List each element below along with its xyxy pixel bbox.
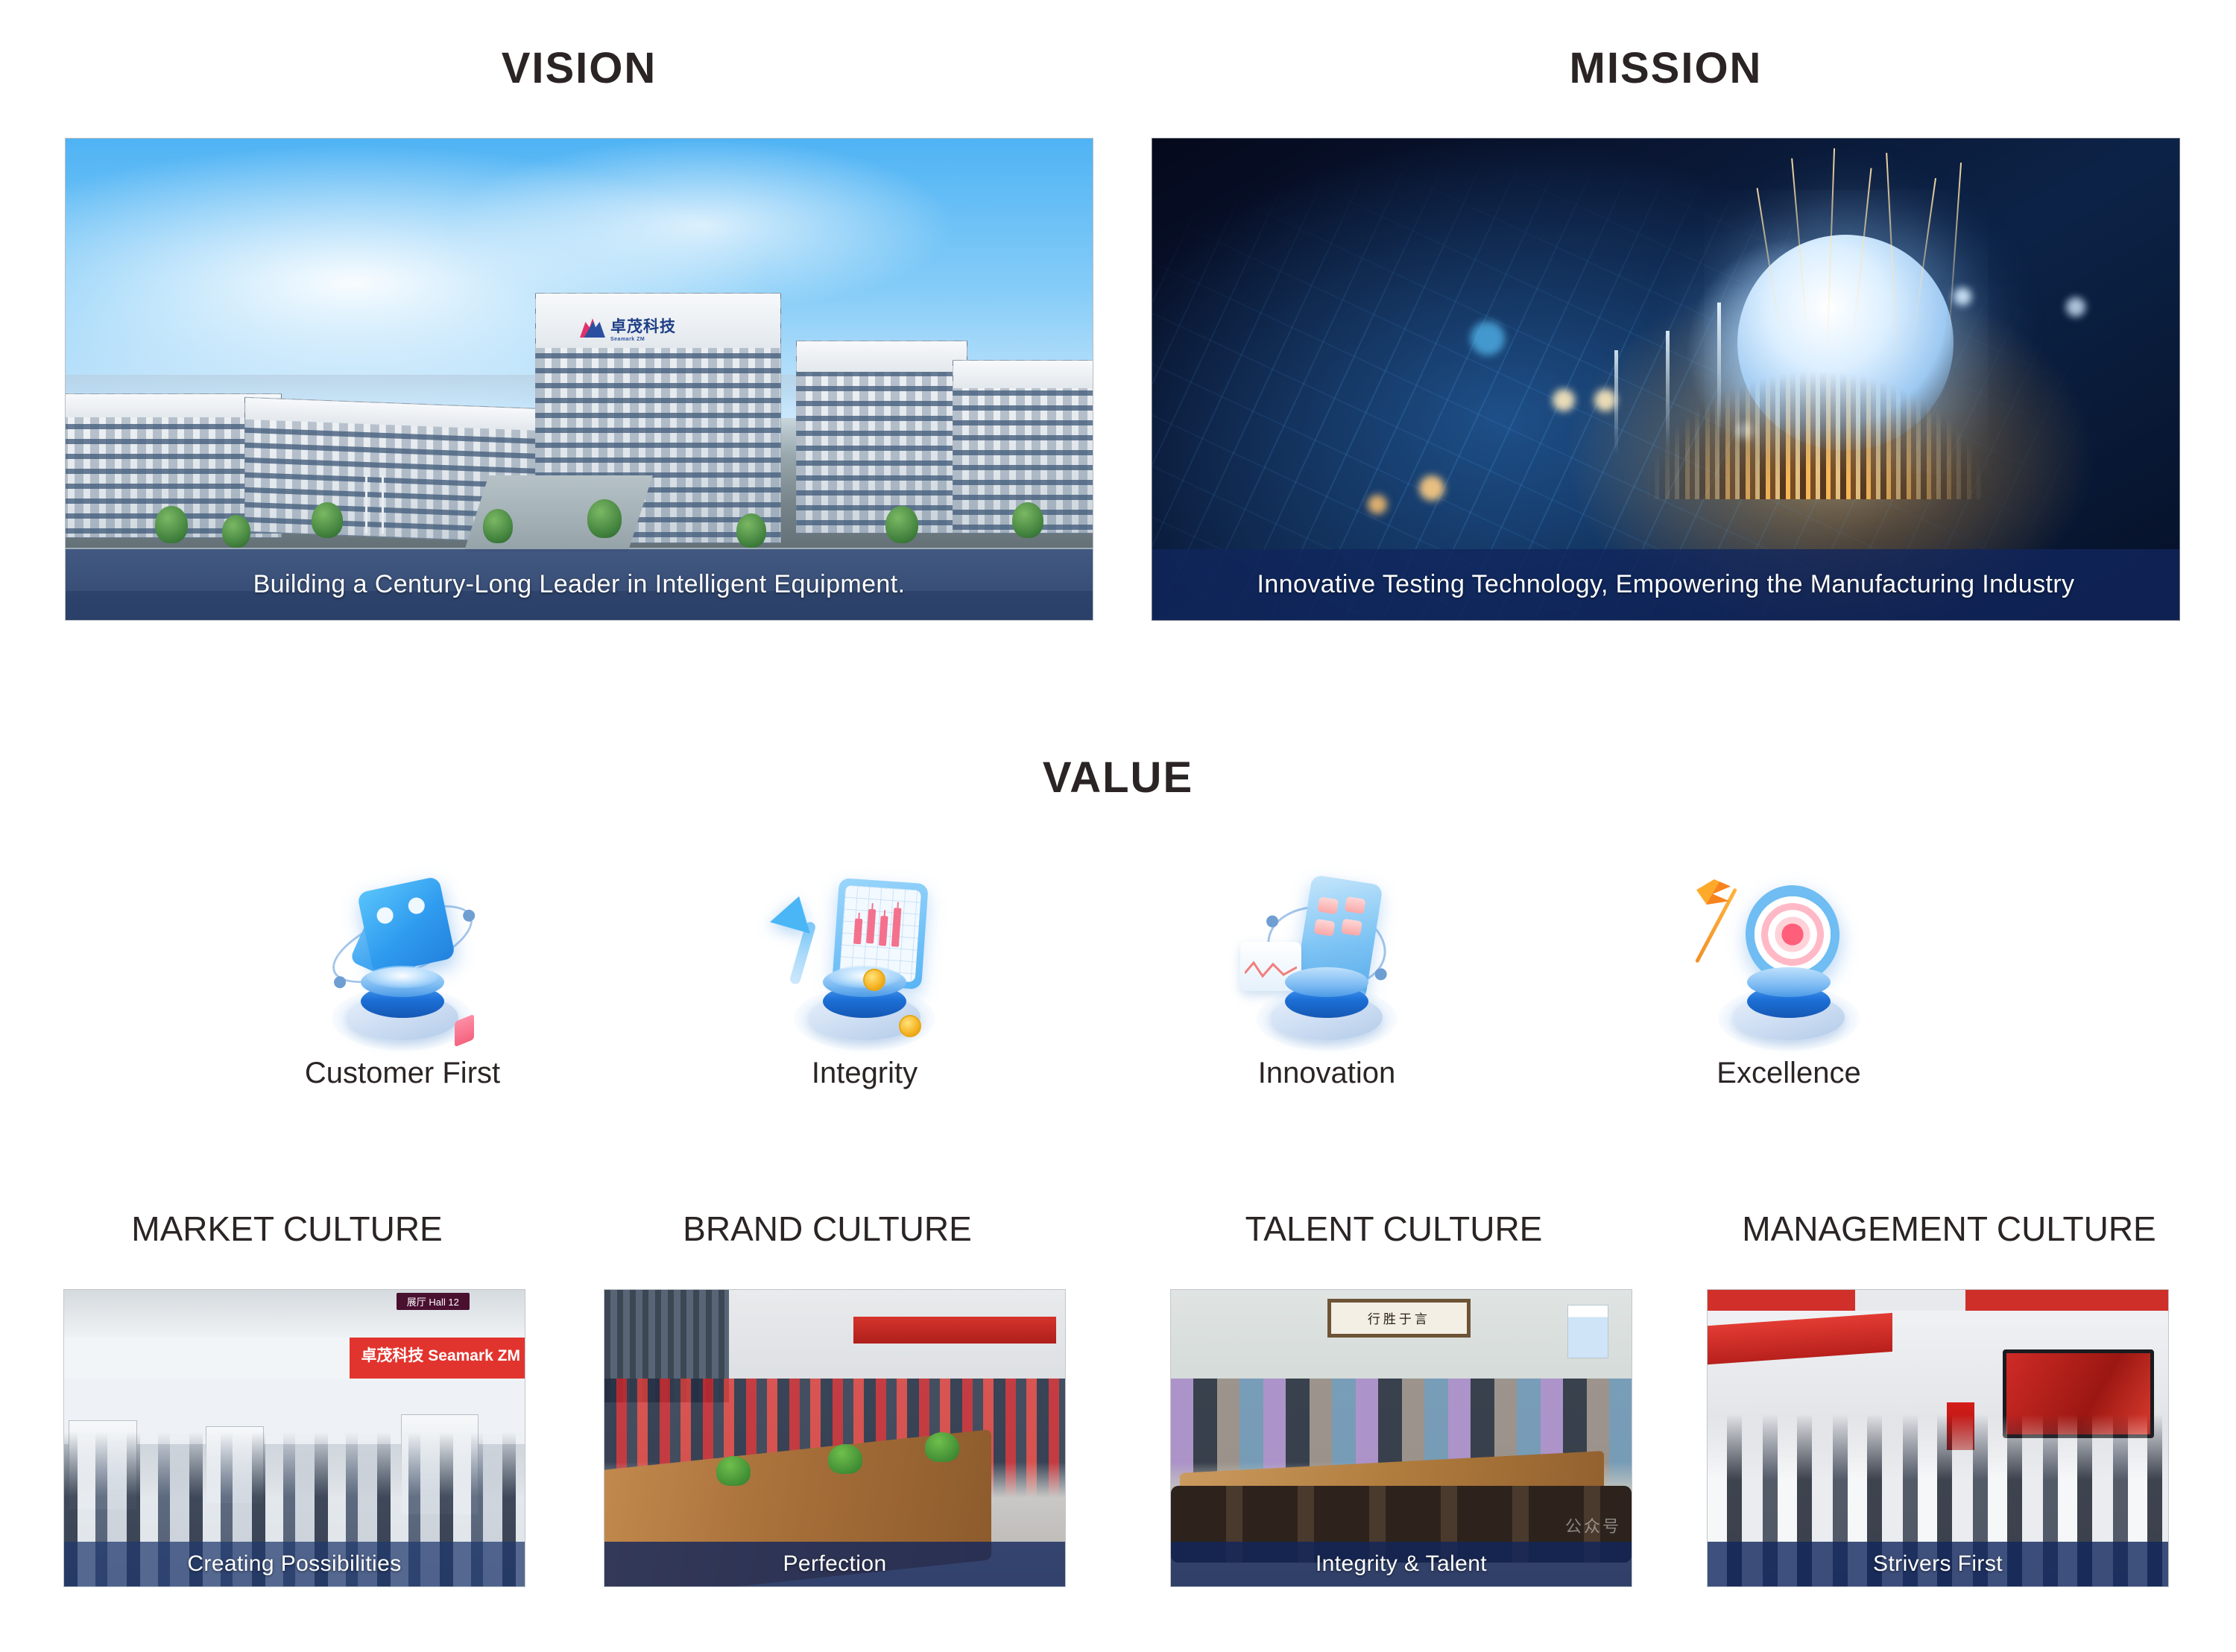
hall-number-sign: 展厅 Hall 12: [397, 1293, 470, 1310]
brand-culture-caption-text: Perfection: [783, 1551, 886, 1577]
coin-icon: [899, 1015, 921, 1037]
market-culture-caption-band: Creating Possibilities: [64, 1542, 525, 1586]
brand-culture-title: BRAND CULTURE: [604, 1209, 1051, 1249]
tree: [312, 502, 343, 538]
mission-section-title: MISSION: [1152, 43, 2180, 93]
management-culture-title: MANAGEMENT CULTURE: [1707, 1209, 2191, 1249]
value-items-grid: Customer First: [246, 879, 1997, 1177]
building-right-a: [796, 341, 967, 533]
company-sign-en: Seamark ZM: [610, 337, 676, 342]
light-pillar: [1717, 303, 1721, 437]
cube-primary-face: [357, 876, 456, 975]
brand-culture-caption-band: Perfection: [604, 1542, 1065, 1586]
orbit-dot: [1266, 914, 1279, 928]
tree: [483, 509, 513, 543]
management-culture-photo: Strivers First: [1707, 1289, 2169, 1587]
value-item-integrity: Integrity: [708, 879, 1021, 1090]
building-roof: [797, 341, 967, 372]
wall-poster: [1567, 1305, 1609, 1358]
booth-brand-text: 卓茂科技 Seamark ZM: [361, 1344, 520, 1366]
management-culture-caption-band: Strivers First: [1708, 1542, 2168, 1586]
light-pillar: [1614, 350, 1618, 455]
target-dart-podium-icon: [1692, 879, 1886, 1051]
candle: [879, 916, 888, 946]
talent-culture-photo: 行胜于言 公众号 Integrity & Talent: [1170, 1289, 1632, 1587]
building-roof: [953, 361, 1093, 388]
cube-podium-icon: [306, 879, 499, 1051]
bokeh-light: [1594, 389, 1617, 411]
chart-board-coin-podium-icon: [768, 879, 961, 1051]
ui-tile: [1344, 896, 1365, 914]
mission-caption-band: Innovative Testing Technology, Empowerin…: [1152, 549, 2179, 620]
orbit-dot: [1374, 967, 1388, 981]
management-culture-caption-text: Strivers First: [1873, 1551, 2003, 1577]
orbit-dot: [461, 908, 477, 923]
tree: [222, 515, 250, 548]
market-culture-caption-text: Creating Possibilities: [187, 1551, 401, 1577]
seamark-logo-icon: [580, 318, 605, 338]
dart-fletching: [1696, 879, 1731, 905]
flag-pole: [365, 475, 367, 534]
value-label: Innovation: [1170, 1057, 1483, 1090]
vision-section-title: VISION: [65, 43, 1093, 93]
table-plant: [828, 1444, 862, 1474]
calligraphy-plaque: 行胜于言: [1327, 1299, 1471, 1338]
value-label: Integrity: [708, 1057, 1021, 1090]
table-plant: [925, 1432, 959, 1462]
value-section-title: VALUE: [0, 753, 2236, 803]
tree: [1012, 502, 1043, 538]
ui-tile: [1341, 919, 1362, 937]
growth-arrow-head: [770, 890, 819, 934]
coin-icon: [863, 969, 885, 991]
tree: [155, 506, 188, 543]
company-culture-page: VISION 卓茂科技 Seamark ZM: [0, 0, 2236, 1652]
mission-photo: Innovative Testing Technology, Empowerin…: [1152, 138, 2180, 621]
light-pillar: [1666, 331, 1670, 450]
flag-pole: [382, 475, 384, 534]
booth-header-band: 卓茂科技 Seamark ZM: [64, 1338, 525, 1379]
value-label: Customer First: [246, 1057, 559, 1090]
tree: [587, 499, 622, 538]
orbit-dot: [332, 975, 348, 990]
talent-culture-title: TALENT CULTURE: [1170, 1209, 1617, 1249]
tree: [736, 513, 766, 548]
golden-city-skyline: [1645, 350, 1988, 499]
talent-culture-caption-text: Integrity & Talent: [1316, 1551, 1487, 1577]
brand-culture-photo: Perfection: [604, 1289, 1066, 1587]
value-item-excellence: Excellence: [1632, 879, 1945, 1090]
company-sign: 卓茂科技 Seamark ZM: [580, 314, 676, 342]
value-item-innovation: Innovation: [1170, 879, 1483, 1090]
value-item-customer-first: Customer First: [246, 879, 559, 1090]
ui-tile: [1313, 919, 1335, 937]
candle: [891, 908, 902, 947]
podium-top: [1285, 967, 1368, 997]
podium-top: [1747, 967, 1831, 997]
vision-photo: 卓茂科技 Seamark ZM: [65, 138, 1093, 621]
candle: [853, 919, 862, 945]
bokeh-light: [1954, 288, 1971, 306]
vision-caption-band: Building a Century-Long Leader in Intell…: [66, 549, 1093, 620]
tree: [885, 506, 918, 543]
event-banner: [853, 1317, 1056, 1344]
market-culture-photo: 展厅 Hall 12 卓茂科技 Seamark ZM Creating Poss…: [63, 1289, 525, 1587]
market-culture-title: MARKET CULTURE: [63, 1209, 511, 1249]
mission-caption-text: Innovative Testing Technology, Empowerin…: [1257, 570, 2075, 599]
podium-light-ring: [367, 966, 438, 988]
company-sign-cn: 卓茂科技: [610, 314, 676, 337]
tablet-atom-podium-icon: [1230, 879, 1424, 1051]
value-label: Excellence: [1632, 1057, 1945, 1090]
vision-caption-text: Building a Century-Long Leader in Intell…: [253, 570, 906, 599]
table-plant: [716, 1456, 751, 1486]
talent-culture-caption-band: Integrity & Talent: [1171, 1542, 1632, 1586]
ui-tile: [1317, 896, 1339, 914]
upper-banner-strip: [1708, 1290, 2168, 1311]
watermark: 公众号: [1565, 1513, 1621, 1537]
candle: [866, 909, 876, 944]
